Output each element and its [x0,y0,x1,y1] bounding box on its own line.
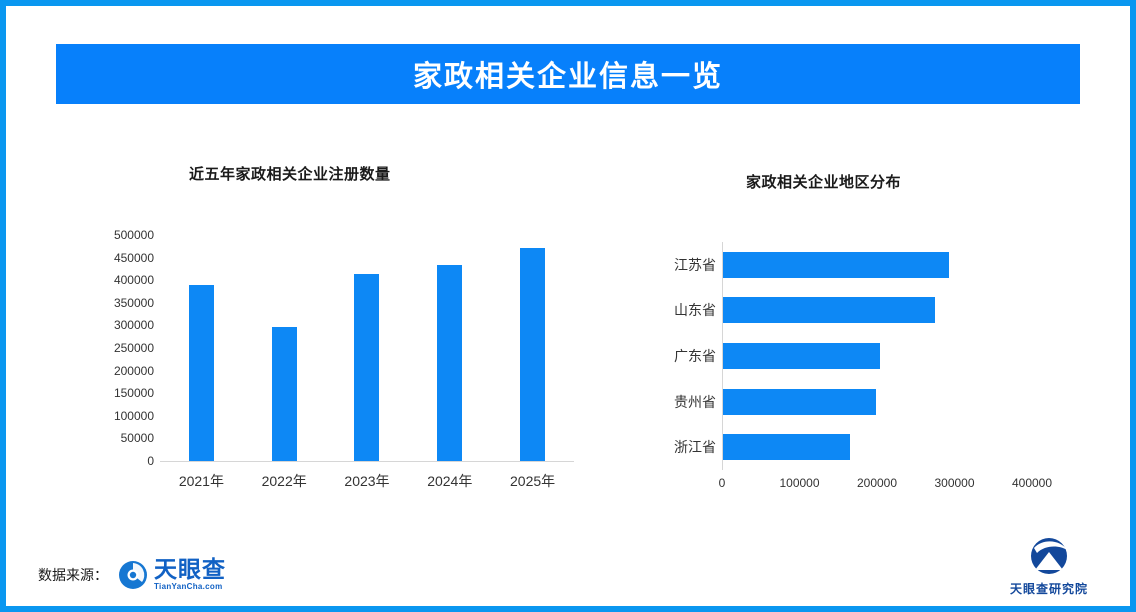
hbar-chart-x-tick: 300000 [934,476,974,490]
bar-chart-y-tick: 150000 [114,386,154,400]
hbar-chart-x-tick: 100000 [779,476,819,490]
bar-chart-y-axis: 0500001000001500002000002500003000003500… [94,224,154,456]
header-banner: 家政相关企业信息一览 [56,44,1080,104]
bar-slot [243,235,326,461]
bar-slot [408,235,491,461]
bar-slot [160,235,243,461]
bar-chart-y-tick: 450000 [114,251,154,265]
region-distribution-bar-chart: 江苏省山东省广东省贵州省浙江省 010000020000030000040000… [646,242,1046,512]
hbar-row [723,297,1033,323]
hbar-chart-x-tick: 0 [719,476,726,490]
data-source-label: 数据来源： [38,565,108,585]
hbar-chart-x-axis: 0100000200000300000400000 [722,476,1032,496]
tianyancha-logo: 天眼查 TianYanCha.com [118,558,226,591]
bar-chart-x-tick: 2022年 [243,471,326,491]
hbar-category-label: 贵州省 [674,392,716,412]
bar-chart-y-tick: 200000 [114,364,154,378]
bar-chart-y-tick: 500000 [114,228,154,242]
bar-chart-y-tick: 350000 [114,296,154,310]
hbar-广东省[interactable] [723,343,880,369]
tianyancha-name: 天眼查 [154,558,226,581]
tianyancha-domain: TianYanCha.com [154,583,226,591]
hbar-江苏省[interactable] [723,252,949,278]
bar-chart-y-tick: 400000 [114,273,154,287]
hbar-chart-x-tick: 400000 [1012,476,1052,490]
left-chart-title: 近五年家政相关企业注册数量 [189,163,391,184]
bar-chart-y-tick: 0 [147,454,154,468]
institute-emblem-icon [1021,534,1077,578]
tianyancha-wordmark: 天眼查 TianYanCha.com [154,558,226,591]
bar-chart-y-tick: 250000 [114,341,154,355]
hbar-chart-x-tick: 200000 [857,476,897,490]
data-source: 数据来源： 天眼查 TianYanCha.com [38,558,226,591]
hbar-浙江省[interactable] [723,434,850,460]
hbar-山东省[interactable] [723,297,935,323]
bar-2023年[interactable] [354,274,379,461]
bar-chart-x-tick: 2023年 [326,471,409,491]
tianyancha-eye-icon [118,560,148,590]
bar-2025年[interactable] [520,248,545,461]
right-chart-title: 家政相关企业地区分布 [746,171,901,192]
bar-chart-x-tick: 2024年 [408,471,491,491]
bar-2024年[interactable] [437,265,462,461]
hbar-贵州省[interactable] [723,389,876,415]
page-title: 家政相关企业信息一览 [413,53,723,95]
hbar-category-label: 江苏省 [674,255,716,275]
bar-chart-bars [160,235,574,461]
bar-chart-y-tick: 100000 [114,409,154,423]
hbar-category-label: 浙江省 [674,437,716,457]
hbar-row [723,343,1033,369]
bar-chart-plot-area [160,235,574,462]
institute-logo: 天眼查研究院 [994,534,1104,597]
registration-count-bar-chart: 0500001000001500002000002500003000003500… [94,224,574,499]
hbar-row [723,434,1033,460]
hbar-row [723,389,1033,415]
bar-chart-x-tick: 2021年 [160,471,243,491]
bar-chart-x-tick: 2025年 [491,471,574,491]
institute-name: 天眼查研究院 [1010,580,1088,597]
bar-chart-x-axis: 2021年2022年2023年2024年2025年 [160,471,574,491]
hbar-category-label: 山东省 [674,300,716,320]
bar-2021年[interactable] [189,285,214,461]
bar-slot [326,235,409,461]
hbar-chart-category-axis: 江苏省山东省广东省贵州省浙江省 [646,242,724,470]
hbar-chart-plot-area [722,242,1033,470]
bar-chart-y-tick: 50000 [121,431,154,445]
hbar-category-label: 广东省 [674,346,716,366]
bar-slot [491,235,574,461]
infographic-canvas: 家政相关企业信息一览 近五年家政相关企业注册数量 050000100000150… [0,0,1136,612]
bar-chart-y-tick: 300000 [114,318,154,332]
hbar-row [723,252,1033,278]
bar-2022年[interactable] [272,327,297,461]
